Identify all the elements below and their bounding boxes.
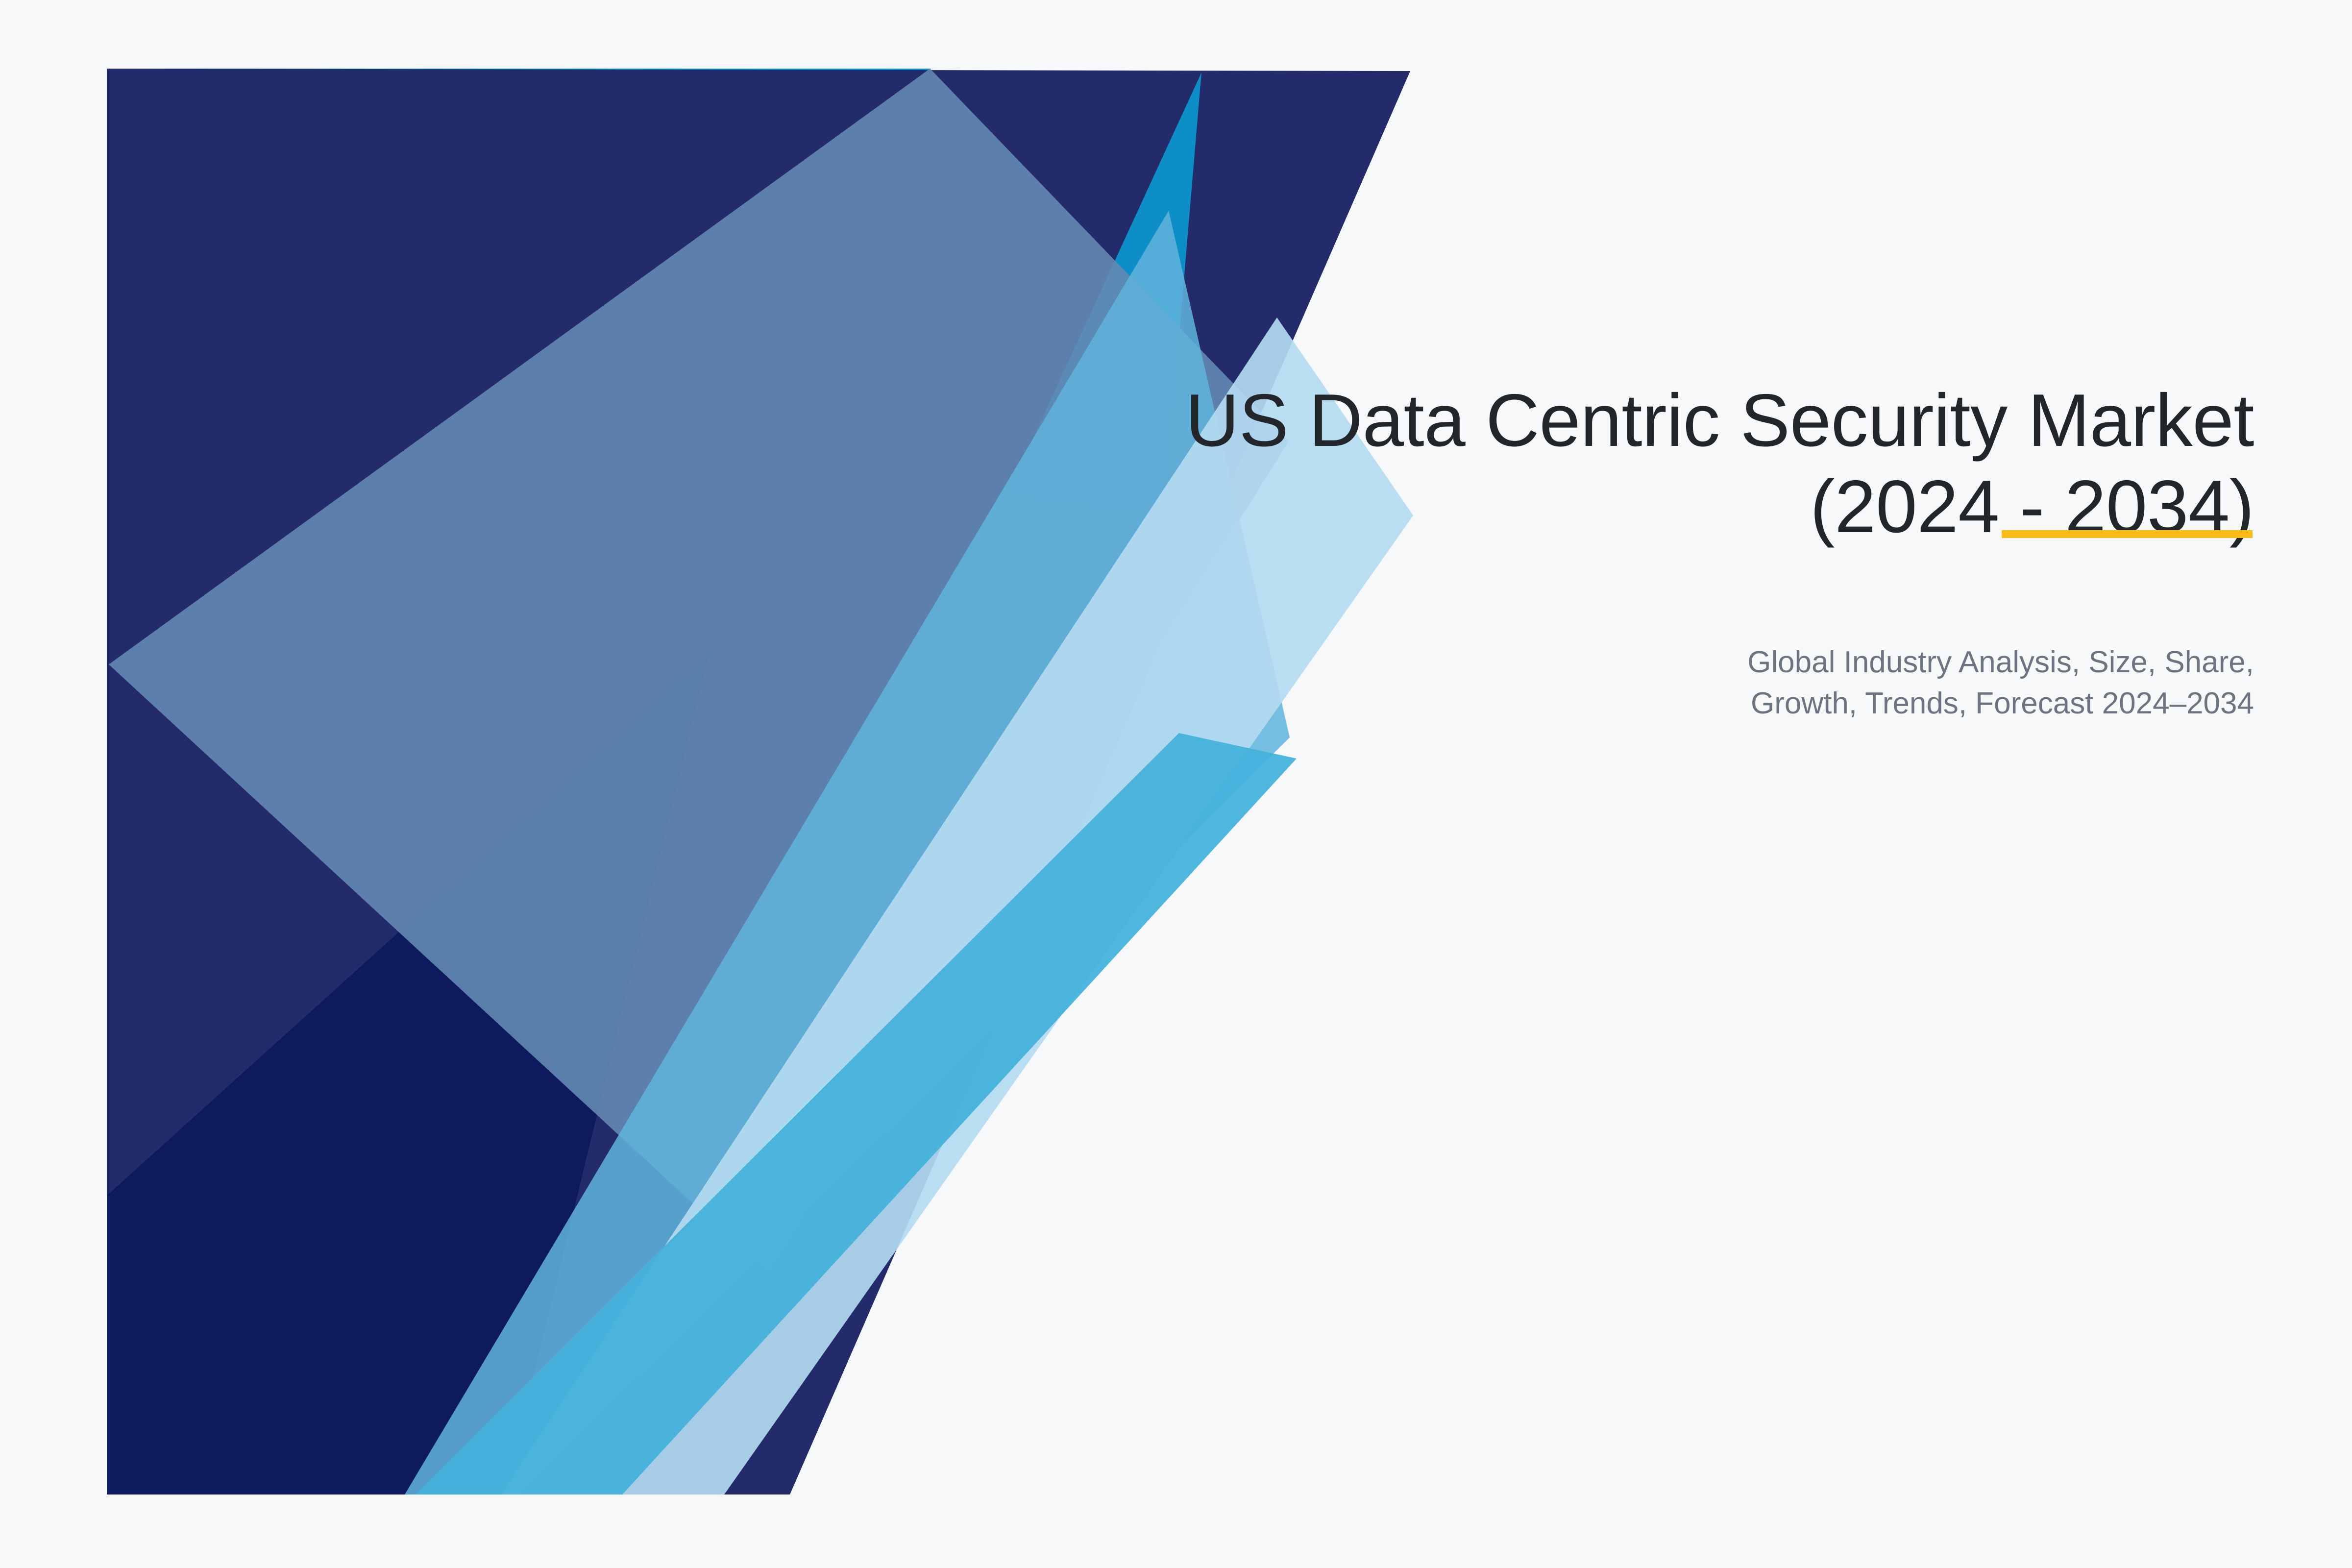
title-accent-underline: [2002, 530, 2253, 538]
cover-page: US Data Centric Security Market (2024 - …: [0, 0, 2352, 1568]
page-title: US Data Centric Security Market (2024 - …: [980, 377, 2254, 550]
abstract-geometric-graphic: [0, 0, 2352, 1568]
page-subtitle: Global Industry Analysis, Size, Share, G…: [1421, 642, 2254, 725]
title-block: US Data Centric Security Market (2024 - …: [980, 377, 2254, 550]
